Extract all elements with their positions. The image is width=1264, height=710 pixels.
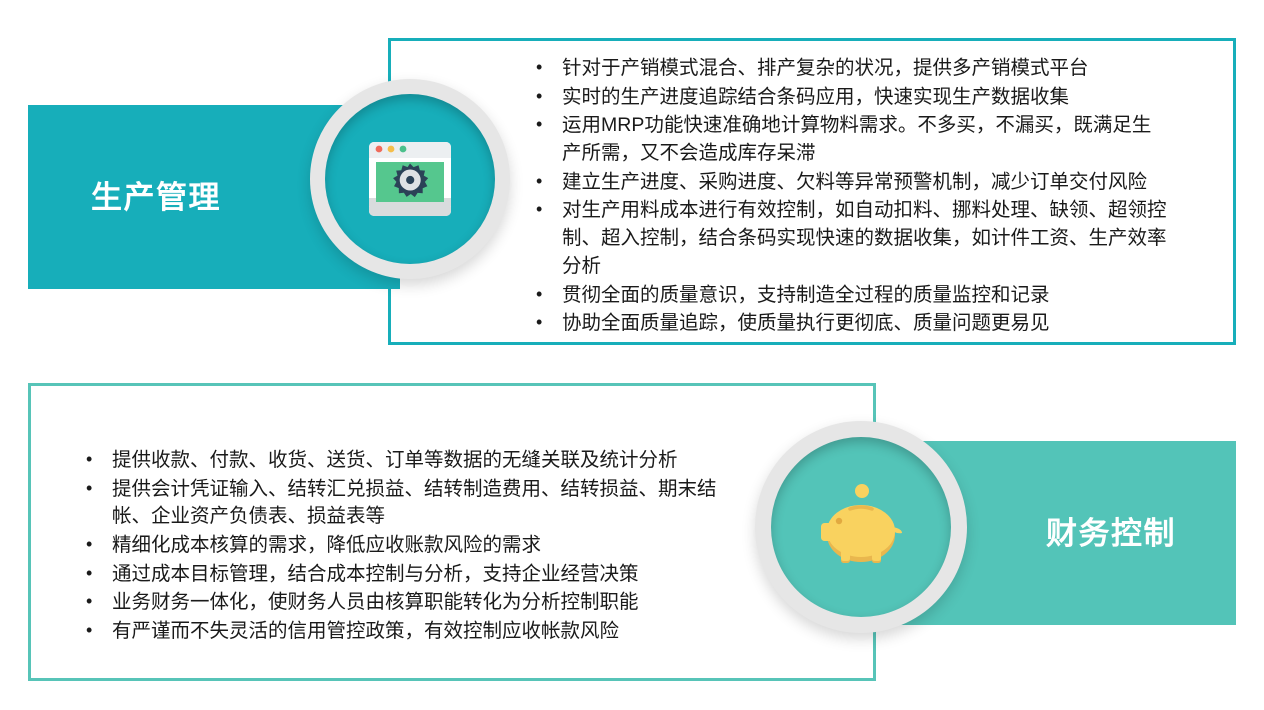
- finance-icon-badge: [755, 421, 967, 633]
- list-item: 提供收款、付款、收货、送货、订单等数据的无缝关联及统计分析: [80, 447, 720, 475]
- slide-canvas: 针对于产销模式混合、排产复杂的状况，提供多产销模式平台 实时的生产进度追踪结合条…: [0, 0, 1264, 710]
- list-item: 精细化成本核算的需求，降低应收账款风险的需求: [80, 532, 720, 560]
- list-item: 提供会计凭证输入、结转汇兑损益、结转制造费用、结转损益、期末结帐、企业资产负债表…: [80, 476, 720, 531]
- list-item: 业务财务一体化，使财务人员由核算职能转化为分析控制职能: [80, 589, 720, 617]
- production-bullet-list: 针对于产销模式混合、排产复杂的状况，提供多产销模式平台 实时的生产进度追踪结合条…: [530, 55, 1170, 339]
- list-item: 建立生产进度、采购进度、欠料等异常预警机制，减少订单交付风险: [530, 169, 1170, 197]
- page-title: 财务控制: [1046, 518, 1176, 549]
- list-item: 协助全面质量追踪，使质量执行更彻底、质量问题更易见: [530, 310, 1170, 338]
- list-item: 针对于产销模式混合、排产复杂的状况，提供多产销模式平台: [530, 55, 1170, 83]
- list-item: 对生产用料成本进行有效控制，如自动扣料、挪料处理、缺领、超领控制、超入控制，结合…: [530, 197, 1170, 280]
- finance-bullet-list: 提供收款、付款、收货、送货、订单等数据的无缝关联及统计分析 提供会计凭证输入、结…: [80, 447, 720, 647]
- production-icon-badge: [310, 79, 510, 279]
- list-item: 运用MRP功能快速准确地计算物料需求。不多买，不漏买，既满足生产所需，又不会造成…: [530, 112, 1170, 167]
- piggy-bank-icon: [813, 479, 909, 575]
- list-item: 有严谨而不失灵活的信用管控政策，有效控制应收帐款风险: [80, 618, 720, 646]
- browser-gear-icon: [367, 136, 453, 222]
- finance-icon-inner-circle: [771, 437, 951, 617]
- page-title: 生产管理: [91, 182, 221, 213]
- production-icon-inner-circle: [325, 94, 495, 264]
- list-item: 实时的生产进度追踪结合条码应用，快速实现生产数据收集: [530, 84, 1170, 112]
- list-item: 通过成本目标管理，结合成本控制与分析，支持企业经营决策: [80, 561, 720, 589]
- list-item: 贯彻全面的质量意识，支持制造全过程的质量监控和记录: [530, 282, 1170, 310]
